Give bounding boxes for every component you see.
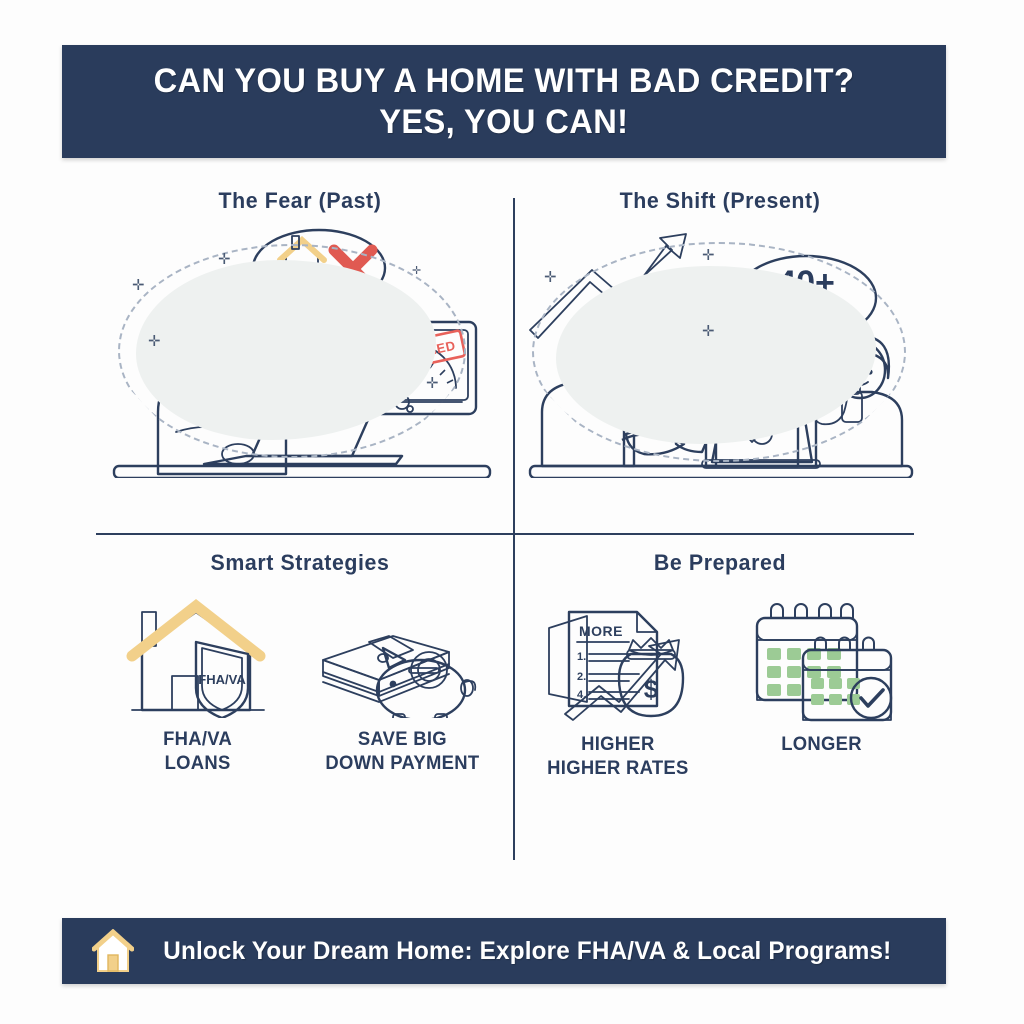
quadrant-title-be-prepared: Be Prepared xyxy=(522,550,918,576)
sparkle-icon: ✛ xyxy=(702,324,715,339)
sparkle-icon: ✛ xyxy=(132,278,145,293)
desk-surface xyxy=(114,466,490,478)
shift-illustration: ✛ ✛ ✛ 40+ APPROVALS xyxy=(516,226,924,478)
sparkle-icon: ✛ xyxy=(426,376,439,391)
quadrant-the-fear: The Fear (Past) ✛ ✛ ✛ ✛ ✛ xyxy=(96,188,504,528)
quadrant-the-shift: The Shift (Present) ✛ ✛ ✛ xyxy=(516,188,924,528)
quadrant-smart-strategies: Smart Strategies FHA/VA FHA/VA xyxy=(96,536,504,876)
caption-line: SAVE BIG xyxy=(325,728,479,752)
sparkle-icon: ✛ xyxy=(148,334,161,349)
money-symbol: $ xyxy=(644,674,659,704)
quadrant-title-the-fear: The Fear (Past) xyxy=(102,188,498,214)
prepared-icon-row: MORE 1. 2. 4. $ xyxy=(516,598,924,774)
caption-line: LOANS xyxy=(164,752,233,776)
caption-line: FHA/VA xyxy=(164,728,233,752)
shield-label: FHA/VA xyxy=(198,672,246,687)
footer-cta-text: Unlock Your Dream Home: Explore FHA/VA &… xyxy=(163,937,891,966)
caption-line: LONGER xyxy=(782,733,863,757)
quadrant-title-main: The Shift xyxy=(620,188,717,213)
strategy-item-down-payment: SAVE BIG DOWN PAYMENT xyxy=(300,598,504,776)
prepared-item-longer: LONGER xyxy=(720,598,924,757)
quadrant-title-main: The Fear xyxy=(219,188,313,213)
prepared-caption-longer: LONGER xyxy=(782,733,863,757)
quadrant-grid: The Fear (Past) ✛ ✛ ✛ ✛ ✛ xyxy=(96,188,916,870)
doc-list-item: 1. xyxy=(577,651,586,663)
prepared-item-higher-rates: MORE 1. 2. 4. $ xyxy=(516,598,720,781)
horizontal-divider xyxy=(96,533,914,535)
caption-line: HIGHER RATES xyxy=(547,757,688,781)
infographic-page: Can You Buy a Home With Bad Credit? Yes,… xyxy=(0,0,1024,1024)
strategy-caption-fha-va: FHA/VA LOANS xyxy=(164,728,233,776)
decorative-dashed-arc xyxy=(532,242,906,462)
strategies-icon-row: FHA/VA FHA/VA LOANS xyxy=(96,598,504,774)
quadrant-title-paren: (Past) xyxy=(319,188,382,213)
header-banner: Can You Buy a Home With Bad Credit? Yes,… xyxy=(62,45,946,158)
strategy-item-fha-va: FHA/VA FHA/VA LOANS xyxy=(96,598,300,776)
sparkle-icon: ✛ xyxy=(412,266,421,277)
quadrant-title-paren: (Present) xyxy=(723,188,821,213)
sparkle-icon: ✛ xyxy=(218,252,231,267)
header-title-line2: Yes, You Can! xyxy=(379,102,628,142)
caption-line: DOWN PAYMENT xyxy=(325,752,479,776)
doc-list-item: 2. xyxy=(577,671,586,683)
doc-title: MORE xyxy=(579,623,623,639)
calendars-check-icon xyxy=(747,598,897,723)
footer-house-icon xyxy=(92,929,134,973)
fear-illustration: ✛ ✛ ✛ ✛ ✛ xyxy=(96,226,504,478)
header-title-line1: Can You Buy a Home With Bad Credit? xyxy=(154,61,855,101)
quadrant-title-smart-strategies: Smart Strategies xyxy=(102,550,498,576)
vertical-divider xyxy=(513,198,515,860)
strategy-caption-down-payment: SAVE BIG DOWN PAYMENT xyxy=(325,728,479,776)
quadrant-be-prepared: Be Prepared MORE 1. 2. xyxy=(516,536,924,876)
prepared-caption-higher-rates: HIGHER HIGHER RATES xyxy=(547,733,688,781)
quadrant-title-the-shift: The Shift (Present) xyxy=(522,188,918,214)
house-shield-fha-va-icon: FHA/VA xyxy=(118,598,278,718)
documents-money-bag-rising-arrow-icon: MORE 1. 2. 4. $ xyxy=(533,598,703,723)
footer-cta-banner[interactable]: Unlock Your Dream Home: Explore FHA/VA &… xyxy=(62,918,946,984)
cash-stack-piggy-bank-icon xyxy=(317,598,487,718)
caption-line: HIGHER xyxy=(547,733,688,757)
sparkle-icon: ✛ xyxy=(544,270,557,285)
sparkle-icon: ✛ xyxy=(702,248,715,263)
